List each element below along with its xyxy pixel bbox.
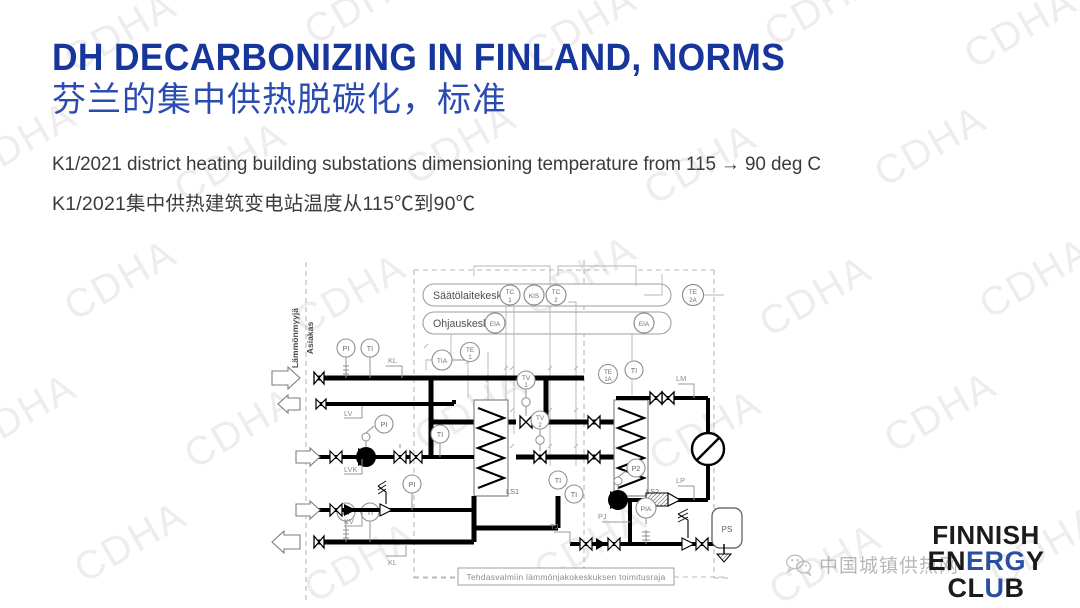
instrument-eia-left-group: EIA	[485, 313, 505, 333]
logo-energy-erg: ERG	[966, 546, 1026, 576]
exchanger-label-ls1: LS1	[506, 487, 519, 496]
body-text-chinese: K1/2021集中供热建筑变电站温度从115℃到90℃	[52, 192, 1052, 217]
instrument-kis-group: KIS	[524, 285, 544, 305]
delivery-limit-caption: Tehdasvalmiin lämmönjakokeskuksen toimit…	[458, 568, 674, 585]
body-text-english: K1/2021 district heating building substa…	[52, 152, 1022, 178]
logo-energy-y: Y	[1026, 546, 1045, 576]
instrument-tv1-tag: TV	[522, 375, 531, 382]
watermark-cdha: CDHA	[972, 229, 1080, 329]
return-outlet-arrow	[272, 531, 300, 553]
instrument-ti-ls2-a: TI	[555, 476, 561, 485]
kv-inlet-arrow	[296, 501, 320, 519]
primary-return-pipe	[272, 531, 474, 553]
valve-ls2-bottom	[588, 451, 600, 463]
instrument-te1a-sub: 1A	[604, 377, 611, 383]
instrument-tc2-tag: TC	[552, 289, 561, 296]
instrument-pi-kv: PI	[409, 480, 416, 489]
instrument-ti-ls1: TI	[437, 430, 443, 439]
valve-ls2-top	[588, 416, 600, 428]
wechat-icon	[786, 554, 812, 576]
instrument-te1-tag: TE	[466, 347, 474, 354]
lvk-inlet-arrow	[296, 448, 320, 466]
instrument-te2a-group: TE 2A	[683, 285, 725, 306]
pipe-label-lvk-text: LVK	[344, 465, 357, 474]
secondary-lvk-circuit	[296, 448, 474, 466]
substation-schematic-diagram: Tehdasvalmiin lämmönjakokeskuksen toimit…	[258, 252, 788, 602]
pipe-label-pj-text: PJ	[598, 512, 607, 521]
instrument-te1a-group: TE 1A	[599, 365, 618, 384]
logo-club-b: B	[1005, 573, 1025, 603]
instrument-te1-group: TE 1	[461, 343, 480, 362]
instrument-eia-right-group: EIA	[634, 313, 654, 333]
pipe-label-kl-bottom-text: KL	[388, 558, 397, 567]
pipe-label-kl-bottom: KL	[386, 544, 406, 567]
instrument-eia-left: EIA	[490, 321, 501, 328]
pipe-label-kl-top: KL	[386, 356, 402, 378]
radiator-symbol	[692, 433, 724, 465]
watermark-cdha: CDHA	[957, 0, 1080, 78]
primary-return-risers	[474, 496, 558, 542]
lv-outlet-arrow	[278, 395, 300, 413]
pipe-label-lm-text: LM	[676, 374, 686, 383]
factory-unit-boundary	[414, 260, 728, 578]
label-customer: Asiakas	[305, 322, 315, 355]
watermark-cdha: CDHA	[877, 363, 1005, 463]
label-seller: Lämmönmyyjä	[290, 308, 300, 368]
instrument-pia: PIA	[641, 506, 652, 513]
schematic-svg: Tehdasvalmiin lämmönjakokeskuksen toimit…	[258, 252, 788, 602]
valves-after-pump1	[394, 444, 422, 463]
instrument-pi-supply: PI	[343, 344, 350, 353]
valve-supply-main	[314, 372, 324, 384]
pipe-label-tj-text: TJ	[550, 522, 559, 531]
supply-inlet-arrow	[272, 367, 300, 389]
instrument-tc1-tag: TC	[506, 289, 515, 296]
logo-club-cl: CL	[948, 573, 985, 603]
instrument-tv2-tag: TV	[536, 415, 545, 422]
logo-club-u: U	[985, 573, 1005, 603]
vessel-label-ps: PS	[722, 525, 733, 534]
instrument-kis: KIS	[529, 293, 539, 300]
watermark-cdha: CDHA	[57, 231, 185, 331]
slide-header: DH DECARBONIZING IN FINLAND, NORMS 芬兰的集中…	[52, 38, 840, 120]
instrument-group-supply: PI TI	[337, 339, 379, 378]
instrument-p2-pump2: P2	[632, 464, 641, 473]
pipe-label-lp-text: LP	[676, 476, 685, 485]
page-title-english: DH DECARBONIZING IN FINLAND, NORMS	[52, 38, 785, 78]
watermark-cdha: CDHA	[0, 365, 84, 465]
instrument-te2a-tag: TE	[689, 289, 697, 296]
pipe-label-lv: LV	[344, 406, 362, 418]
logo-energy-en: EN	[927, 546, 966, 576]
heat-exchanger-ls1: LS1	[474, 400, 519, 496]
primary-branch-pipes	[431, 378, 614, 457]
finnish-energy-club-logo: FINNISH ENERGY CLUB	[900, 522, 1072, 602]
pipe-label-pj: PJ	[598, 512, 630, 522]
instrument-eia-right: EIA	[639, 321, 650, 328]
pipe-label-kv-text: KV	[344, 517, 354, 526]
logo-line-club: CLUB	[900, 575, 1072, 602]
pipe-label-lv-text: LV	[344, 409, 353, 418]
instrument-te1a-tag: TE	[604, 369, 612, 376]
instrument-pi-kv-group: PI	[403, 475, 421, 510]
pipe-label-kl-top-text: KL	[388, 356, 397, 365]
delivery-limit-text: Tehdasvalmiin lämmönjakokeskuksen toimit…	[466, 572, 665, 582]
pipe-label-lp: LP	[676, 476, 694, 500]
instrument-pia-group: PIA	[636, 498, 656, 544]
instrument-ti-ls1-group: TI	[431, 425, 449, 457]
instrument-ti-ls2-top: TI	[631, 366, 637, 375]
instrument-te2a-sub: 2A	[689, 297, 697, 304]
instrument-tc1-group: TC 1	[500, 285, 520, 305]
watermark-cdha: CDHA	[67, 493, 195, 593]
logo-line-finnish: FINNISH	[900, 522, 1072, 548]
instrument-ti-supply: TI	[367, 344, 373, 353]
page-title-chinese: 芬兰的集中供热脱碳化，标准	[52, 80, 840, 120]
instrument-pi-pump1: PI	[381, 420, 388, 429]
body-text-block: K1/2021 district heating building substa…	[52, 152, 1052, 217]
secondary-lv-circuit	[278, 395, 454, 413]
instrument-ti-pair: TI TI	[549, 471, 583, 503]
valve-heating-top	[650, 392, 674, 404]
instrument-ti-ls2-b: TI	[571, 490, 577, 499]
logo-line-energy: ENERGY	[900, 548, 1072, 575]
expansion-vessel-ps: PS	[712, 508, 742, 548]
instrument-tia: TIA	[437, 358, 448, 365]
pipe-label-lm: LM	[676, 374, 694, 398]
instrument-tc2-group: TC 2	[546, 285, 566, 305]
